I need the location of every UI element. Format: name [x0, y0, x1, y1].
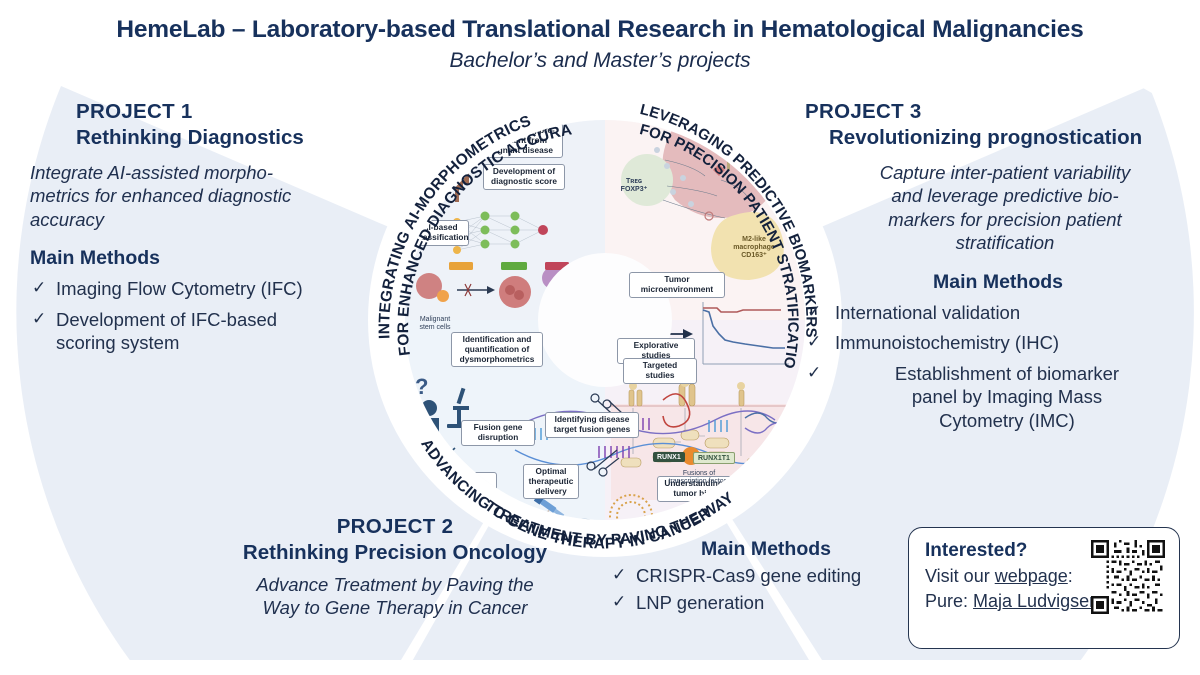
callout-targeted-studies: Targeted studies — [623, 358, 697, 384]
list-item: ✓ Imaging Flow Cytometry (IFC) — [30, 277, 380, 300]
project-2-description: Advance Treatment by Paving the Way to G… — [210, 573, 580, 620]
callout-optimal-delivery: Optimal therapeutic delivery — [523, 464, 579, 499]
method-text: International validation — [835, 302, 1020, 323]
callout-line: malignant disease — [481, 145, 553, 155]
project-1-subtitle: Rethinking Diagnostics — [30, 126, 380, 150]
callout-line: Identification and — [463, 334, 532, 344]
check-icon: ✓ — [612, 565, 626, 586]
method-text: Imaging Flow Cytometry (IFC) — [56, 278, 303, 299]
label-line: macrophage — [733, 244, 775, 251]
label-m2-macrophage: M2-like macrophage CD163⁺ — [729, 236, 779, 260]
label-line: Tumor — [720, 142, 741, 149]
callout-line: Targeted studies — [643, 360, 677, 380]
method-text: Development of IFC-based — [56, 309, 277, 330]
svg-text:?: ? — [415, 374, 428, 399]
callout-line: quantification of — [465, 344, 530, 354]
webpage-suffix: : — [1068, 566, 1073, 586]
list-item: ✓ CRISPR-Cas9 gene editing — [610, 565, 910, 588]
callout-identification-quantification: Identification and quantification of dys… — [451, 332, 543, 367]
project-1-kicker: PROJECT 1 — [30, 100, 380, 124]
project-3-methods-list: ✓ International validation ✓ Immunoistoc… — [805, 301, 1185, 432]
callout-line: target fusion genes — [554, 424, 631, 434]
project-1-desc-line: Integrate AI-assisted morpho- — [30, 161, 380, 184]
check-icon: ✓ — [807, 301, 821, 323]
webpage-prefix: Visit our — [925, 566, 995, 586]
callout-line: delivery — [535, 486, 566, 496]
callout-line: Development of — [493, 166, 555, 176]
label-line: Tʀᴇɢ — [626, 178, 642, 185]
pure-link[interactable]: Maja Ludvigsen — [973, 591, 1099, 611]
list-item: ✓ Immunoistochemistry (IHC) — [805, 331, 1185, 354]
page-subtitle: Bachelor’s and Master’s projects — [0, 49, 1200, 73]
project-3-desc-line: and leverage predictive bio- — [825, 184, 1185, 207]
project-2-methods-list: ✓ CRISPR-Cas9 gene editing ✓ LNP generat… — [610, 565, 910, 614]
callout-line: diagnostic score — [491, 176, 557, 186]
method-text: LNP generation — [636, 592, 764, 613]
project-1-block: PROJECT 1 Rethinking Diagnostics Integra… — [30, 100, 380, 355]
lnp-icon — [610, 495, 652, 520]
method-text: Establishment of biomarker — [895, 363, 1119, 384]
poster-title-block: HemeLab – Laboratory-based Translational… — [0, 16, 1200, 73]
check-icon: ✓ — [807, 331, 821, 353]
poster-canvas: HemeLab – Laboratory-based Translational… — [0, 0, 1200, 675]
callout-discriminating: Discriminating pre- malignant from malig… — [471, 123, 563, 158]
callout-ai-classification: AI-based classification — [411, 220, 469, 246]
pure-prefix: Pure: — [925, 591, 973, 611]
person-brown-icon — [445, 154, 469, 202]
list-item: ✓ Development of IFC-based scoring syste… — [30, 308, 380, 355]
project-1-methods-heading: Main Methods — [30, 247, 380, 270]
project-3-desc-line: Capture inter-patient variability — [825, 161, 1185, 184]
project-3-kicker: PROJECT 3 — [805, 100, 1185, 124]
label-line: transcription factors — [668, 478, 729, 485]
project-3-desc-line: stratification — [825, 231, 1185, 254]
label-fusions-transcription-factors: Fusions of transcription factors — [653, 470, 745, 486]
callout-line: Explorative studies — [634, 340, 679, 360]
callout-tumor-microenvironment: Tumor microenvironment — [629, 272, 725, 298]
label-line: CD163⁺ — [741, 252, 766, 259]
label-line: M2-like — [742, 236, 766, 243]
project-1-description: Integrate AI-assisted morpho- metrics fo… — [30, 161, 380, 231]
check-icon: ✓ — [32, 277, 46, 299]
callout-identifying-fusion-genes: Identifying disease target fusion genes — [545, 412, 639, 438]
callout-line: AI-based — [422, 222, 457, 232]
project-1-desc-line: accuracy — [30, 208, 380, 231]
project-2-subtitle: Rethinking Precision Oncology — [210, 541, 580, 565]
callout-line: dysmorphometrics — [460, 354, 535, 364]
callout-limiting-side-effects: Limiting adverse side effects — [425, 472, 497, 507]
label-line: FOXP3⁺ — [621, 186, 648, 193]
webpage-link[interactable]: webpage — [995, 566, 1068, 586]
method-text: Cytometry (IMC) — [939, 410, 1075, 431]
project-3-block: PROJECT 3 Revolutionizing prognosticatio… — [805, 100, 1185, 432]
interested-card: Interested? Visit our webpage: Pure: Maj… — [908, 527, 1180, 649]
project-2-block: PROJECT 2 Rethinking Precision Oncology … — [210, 515, 580, 620]
check-icon: ✓ — [807, 362, 821, 384]
gene-box-runx1: RUNX1 — [653, 452, 685, 462]
label-line: Malignant — [420, 316, 450, 323]
person-orange-icon — [423, 154, 447, 202]
label-line: Fusions of — [683, 470, 715, 477]
project-2-methods-block: Main Methods ✓ CRISPR-Cas9 gene editing … — [610, 538, 910, 614]
callout-line: malignant from — [487, 135, 547, 145]
qr-code-icon[interactable] — [1091, 540, 1165, 614]
callout-line: microenvironment — [641, 284, 713, 294]
method-text: CRISPR-Cas9 gene editing — [636, 565, 861, 586]
label-line: stem cells — [419, 324, 450, 331]
callout-line: Fusion gene — [474, 422, 523, 432]
callout-line: Identifying disease — [555, 414, 630, 424]
page-title: HemeLab – Laboratory-based Translational… — [0, 16, 1200, 44]
label-malignant-stem-cells: Malignant stem cells — [409, 316, 461, 332]
list-item: ✓ LNP generation — [610, 592, 910, 615]
label-treg: Tʀᴇɢ FOXP3⁺ — [617, 178, 651, 194]
neural-network-icon — [457, 216, 543, 250]
callout-line: side effects — [438, 494, 484, 504]
callout-fusion-gene-disruption: Fusion gene disruption — [461, 420, 535, 446]
label-line: cell — [725, 150, 737, 157]
callout-diagnostic-score: Development of diagnostic score — [483, 164, 565, 190]
check-icon: ✓ — [612, 592, 626, 613]
callout-line: tumor biology — [673, 488, 728, 498]
project-3-description: Capture inter-patient variability and le… — [805, 161, 1185, 255]
central-circular-diagram: Discriminating pre- malignant from malig… — [368, 83, 842, 557]
label-tumor-cell: Tumor cell — [713, 142, 749, 158]
method-text: Immunoistochemistry (IHC) — [835, 332, 1059, 353]
project-3-desc-line: markers for precision patient — [825, 208, 1185, 231]
km-plot — [703, 302, 789, 364]
project-2-desc-line: Advance Treatment by Paving the — [210, 573, 580, 596]
callout-line: disruption — [478, 432, 519, 442]
callout-line: Tumor — [664, 274, 689, 284]
callout-line: classification — [416, 232, 469, 242]
project-3-methods-heading: Main Methods — [805, 271, 1185, 294]
callout-line: Limiting adverse — [445, 474, 477, 494]
callout-line: Optimal — [536, 466, 567, 476]
project-1-desc-line: metrics for enhanced diagnostic — [30, 184, 380, 207]
project-1-methods-list: ✓ Imaging Flow Cytometry (IFC) ✓ Develop… — [30, 277, 380, 354]
method-text: scoring system — [56, 332, 179, 353]
callout-line: Discriminating pre- — [479, 125, 555, 135]
callout-line: therapeutic — [529, 476, 574, 486]
project-2-desc-line: Way to Gene Therapy in Cancer — [210, 596, 580, 619]
check-icon: ✓ — [32, 308, 46, 330]
method-text: panel by Imaging Mass — [912, 386, 1102, 407]
list-item: ✓ Establishment of biomarker panel by Im… — [805, 362, 1185, 432]
project-3-subtitle: Revolutionizing prognostication — [805, 126, 1185, 150]
project-2-methods-heading: Main Methods — [610, 538, 910, 561]
project-2-kicker: PROJECT 2 — [210, 515, 580, 539]
gene-box-runx1t1: RUNX1T1 — [693, 452, 735, 464]
list-item: ✓ International validation — [805, 301, 1185, 324]
